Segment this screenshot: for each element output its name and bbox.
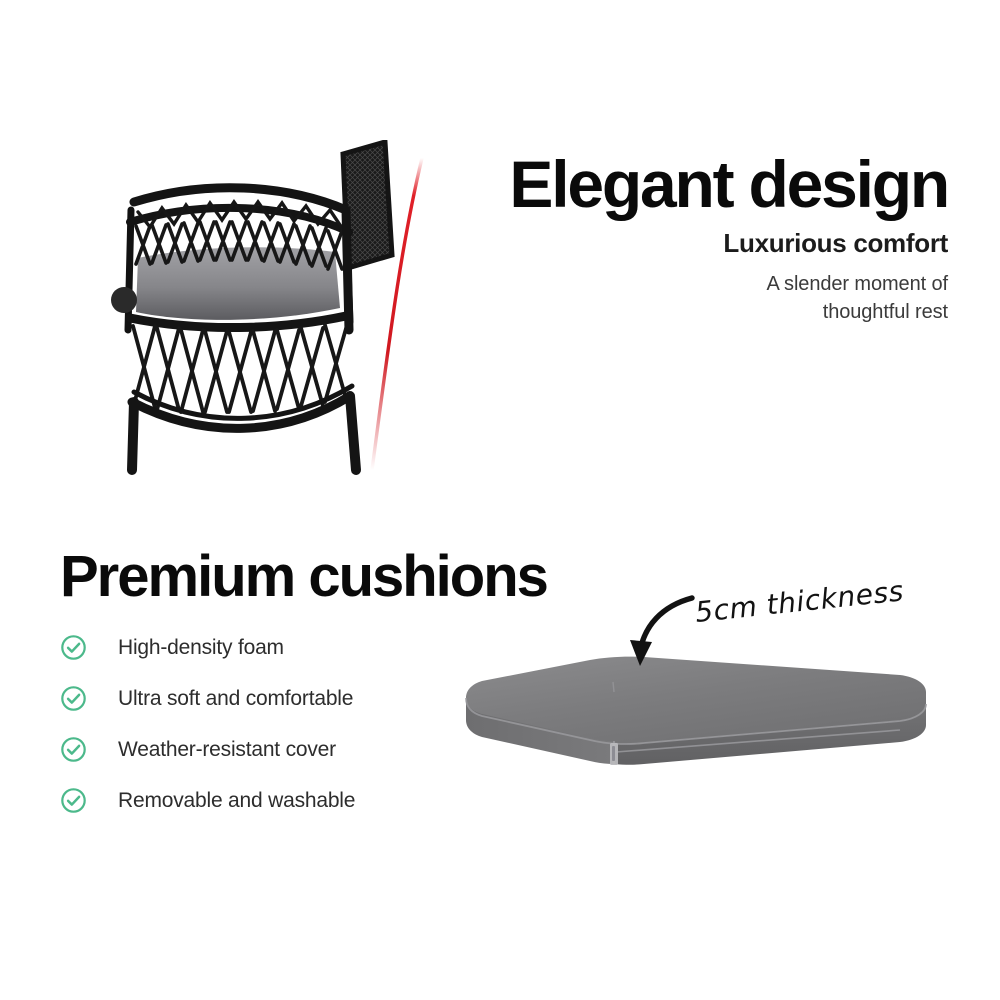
wicker-armchair-illustration [100, 140, 430, 500]
feature-label: Ultra soft and comfortable [118, 687, 353, 711]
curved-arrow-down-left-icon [630, 598, 692, 666]
list-item: Ultra soft and comfortable [60, 673, 460, 724]
feature-label: High-density foam [118, 636, 284, 660]
feature-list: High-density foam Ultra soft and comfort… [60, 622, 460, 826]
check-circle-icon [60, 634, 87, 661]
check-circle-icon [60, 787, 87, 814]
chair-back-knob [111, 287, 137, 313]
elegant-design-text-block: Elegant design Luxurious comfort A slend… [470, 152, 948, 326]
chair-leg-front [132, 402, 134, 470]
feature-label: Removable and washable [118, 789, 355, 813]
chair-lower-lattice [133, 325, 347, 412]
chair-leg-rear [350, 396, 356, 470]
chair-product-image [100, 140, 430, 500]
tagline-block: A slender moment of thoughtful rest [470, 270, 948, 326]
subhead-luxurious-comfort: Luxurious comfort [470, 227, 948, 260]
cushion-zipper-pull-inner [612, 746, 615, 761]
infographic-page: Elegant design Luxurious comfort A slend… [0, 0, 1000, 1000]
list-item: High-density foam [60, 622, 460, 673]
list-item: Removable and washable [60, 775, 460, 826]
tagline-line-2: thoughtful rest [823, 301, 948, 323]
list-item: Weather-resistant cover [60, 724, 460, 775]
check-circle-icon [60, 736, 87, 763]
tagline-line-1: A slender moment of [766, 273, 948, 295]
chair-rear-post-lower [348, 268, 350, 322]
headline-elegant-design: Elegant design [470, 152, 948, 217]
check-circle-icon [60, 685, 87, 712]
feature-label: Weather-resistant cover [118, 738, 336, 762]
cushion-stitch-mark [613, 682, 614, 692]
